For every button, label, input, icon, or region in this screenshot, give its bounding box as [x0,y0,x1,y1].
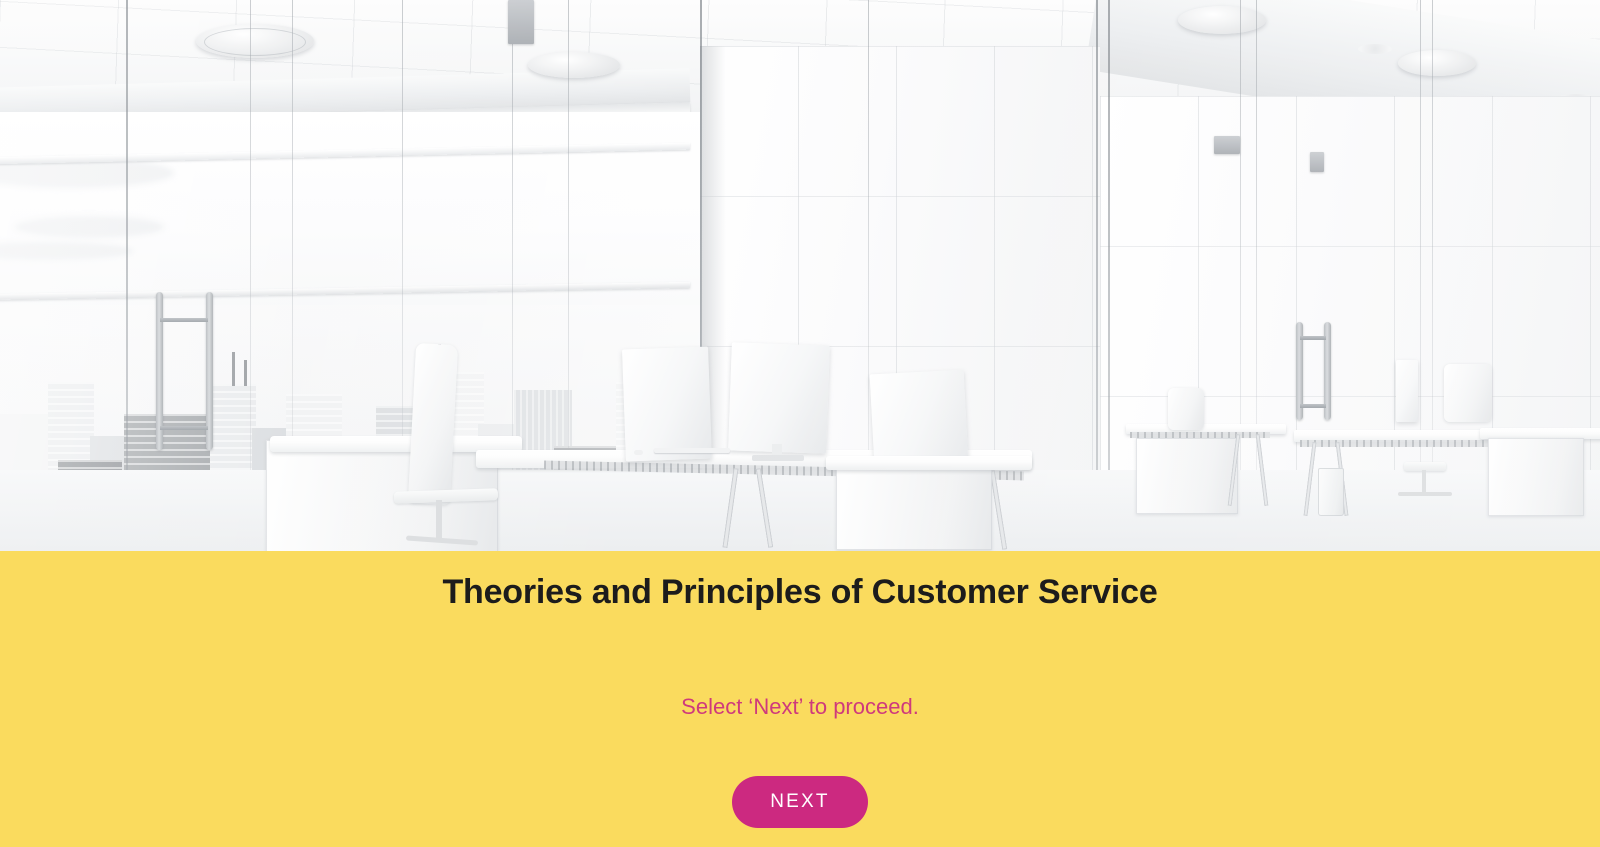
glass-panel-bracket-2 [1214,136,1240,154]
door-handle-arm [1300,336,1326,340]
ceiling-dome-light-3 [1178,6,1266,34]
ceiling-dome-light-2 [528,52,620,78]
glass-mullion [1240,0,1241,551]
office-chair-foot-far-right [1398,492,1452,496]
monitor-center [622,347,712,462]
desk-cabinet-center [836,462,992,550]
office-chair-back-far-right [1444,364,1492,422]
door-handle-arm [160,318,208,322]
monitor-far-right [1396,360,1418,422]
glass-mullion [126,0,128,551]
ceiling-dome-ring-1 [204,28,306,56]
floor [0,470,1600,551]
hero-office-photo [0,0,1600,551]
monitor-right [870,370,969,467]
desk-surface-right-near [826,456,1032,470]
office-chair-back-left [408,343,458,505]
glass-panel-bracket-1 [508,0,534,44]
glass-mullion [250,0,251,551]
page-title: Theories and Principles of Customer Serv… [0,573,1600,612]
waste-bin [1318,468,1344,516]
keyboard [654,448,730,453]
office-chair-base-left [436,500,442,542]
building-spire [244,360,247,386]
instruction-text: Select ‘Next’ to proceed. [0,694,1600,720]
ceiling-downlight-1 [1358,44,1392,54]
desk-cabinet-far-left [1136,438,1238,514]
next-button[interactable]: NEXT [732,776,868,828]
glass-mullion [1108,0,1110,551]
door-handle-arm [160,426,208,430]
ceiling-dome-light-4 [1398,50,1476,76]
desk-cabinet-far-right [1488,438,1584,516]
monitor-center-2 [728,342,830,453]
building-spire [232,352,235,386]
next-button-container: NEXT [0,776,1600,828]
office-chair-back-far-left [1168,388,1204,430]
cloud-3 [0,242,134,260]
mouse [634,450,643,455]
glass-mullion [1096,0,1098,551]
content-band: Theories and Principles of Customer Serv… [0,551,1600,847]
cloud-2 [14,216,164,238]
glass-panel-bracket-3 [1310,152,1324,172]
course-slide: Theories and Principles of Customer Serv… [0,0,1600,847]
glass-mullion [512,0,513,551]
monitor-stand-foot [752,455,804,461]
glass-mullion [1256,0,1257,551]
door-handle-arm [1300,404,1326,408]
